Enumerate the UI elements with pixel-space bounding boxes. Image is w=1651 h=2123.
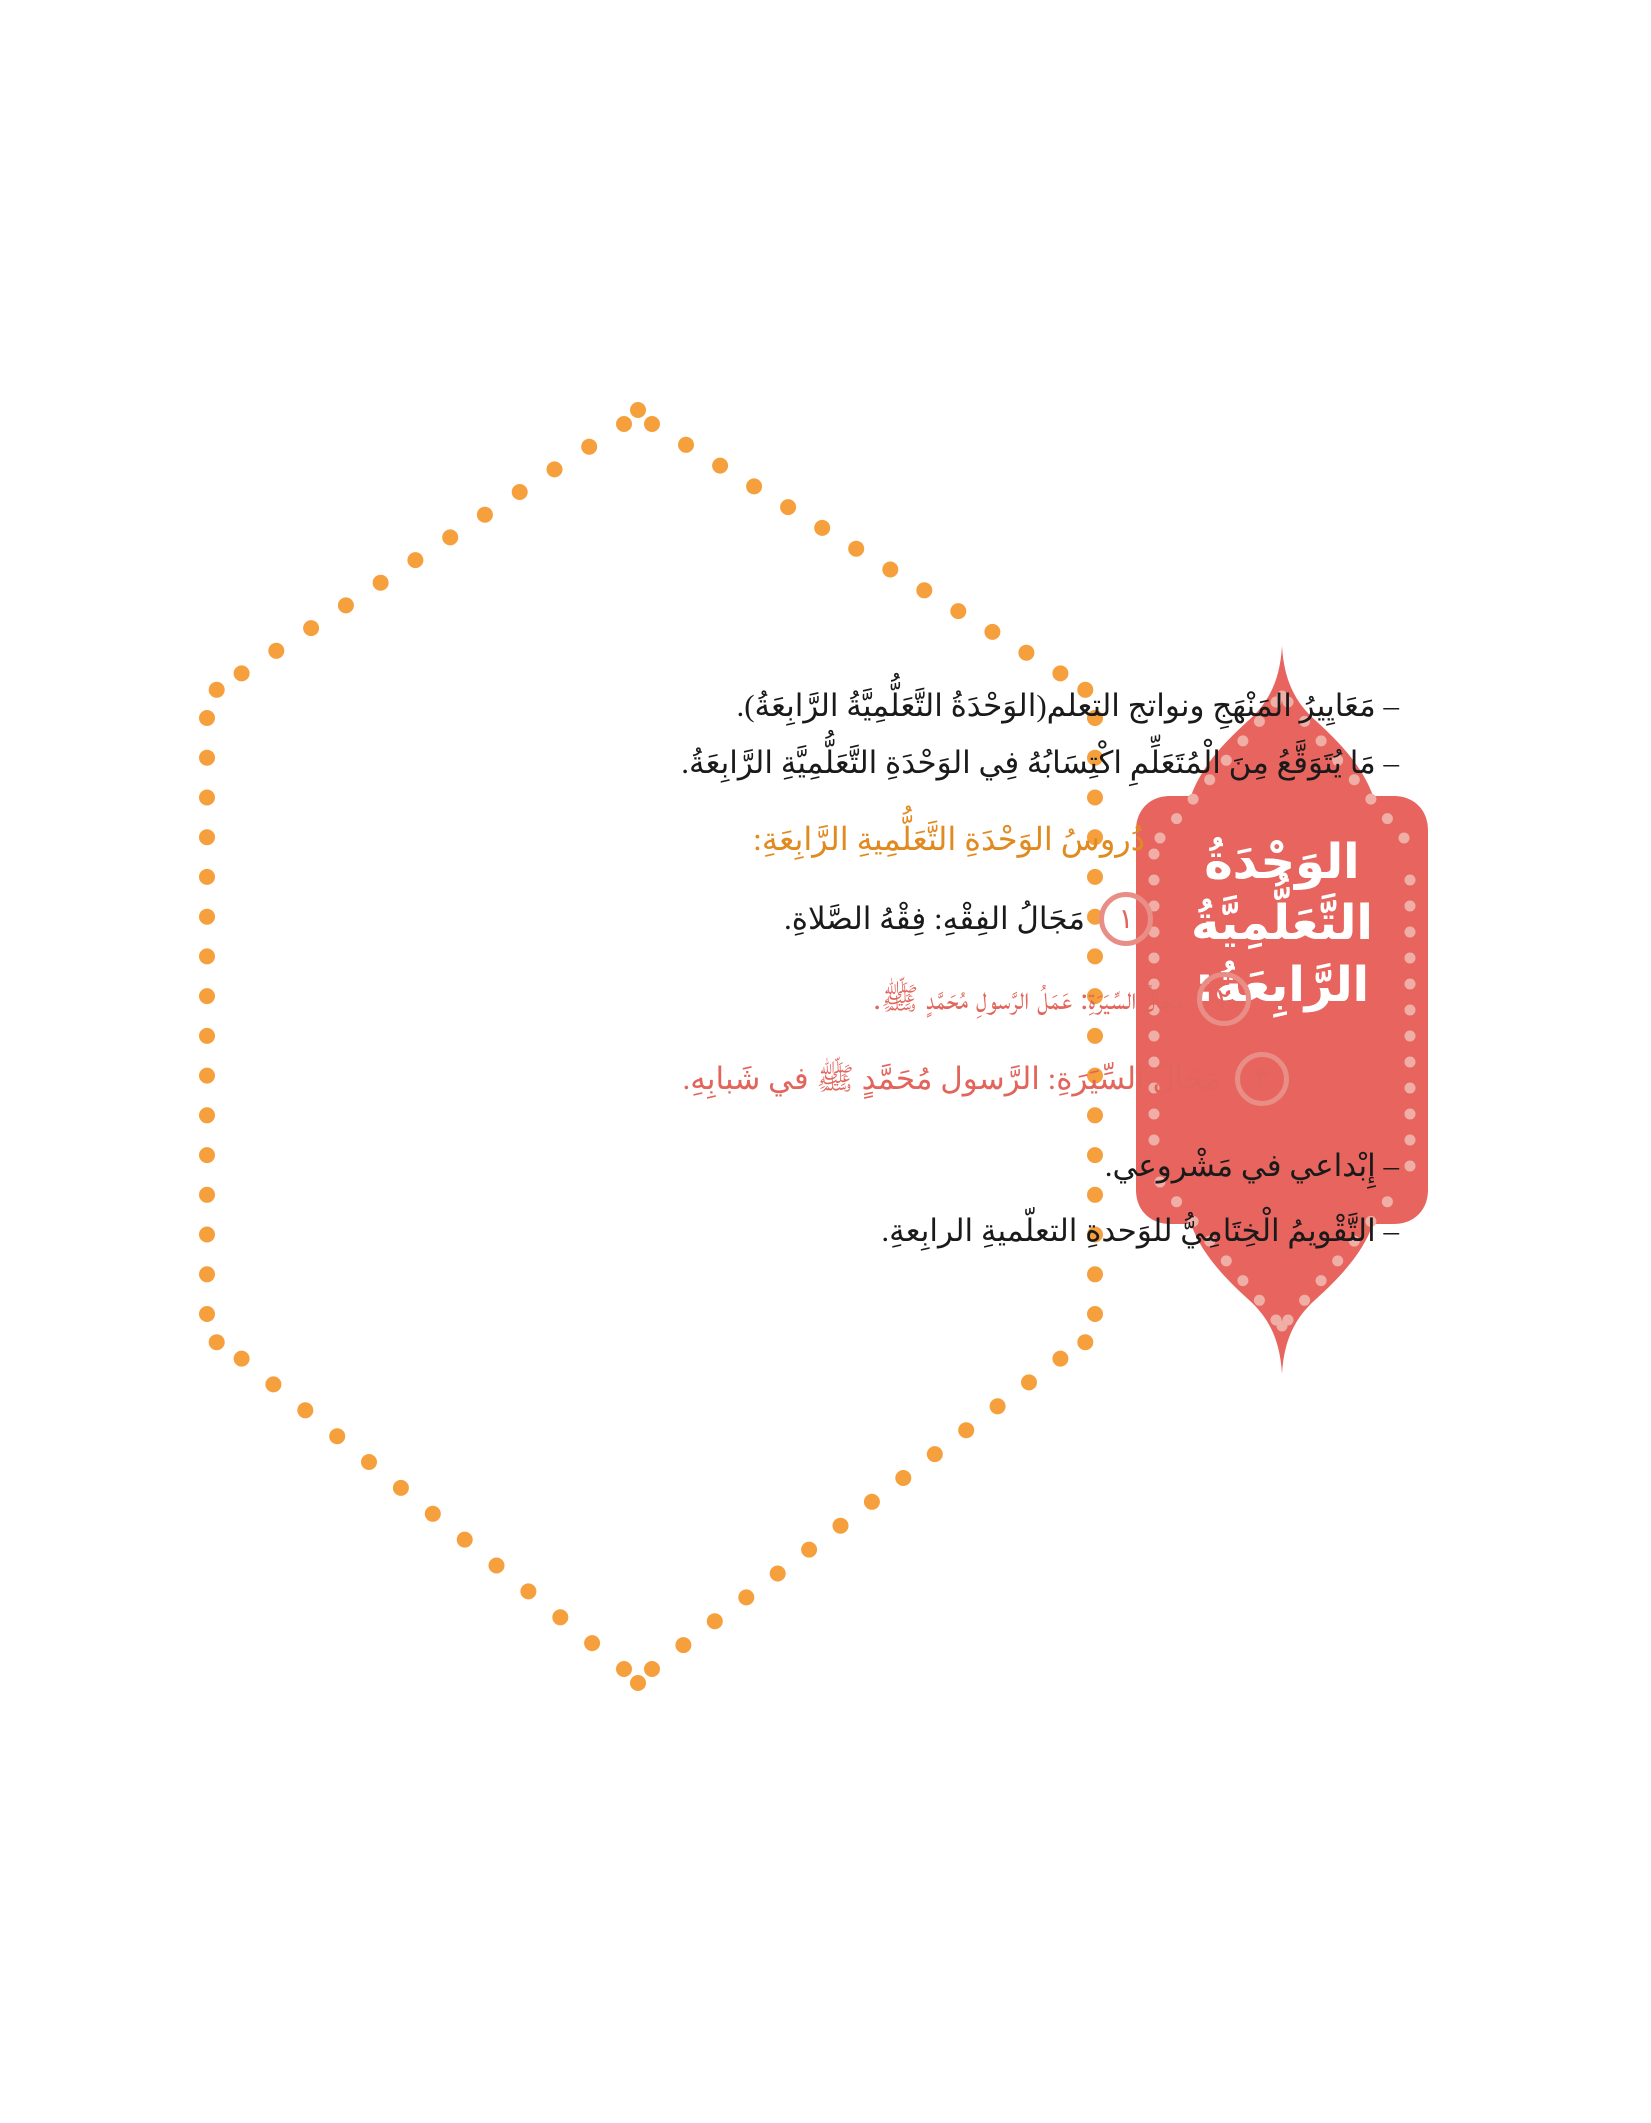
frame-dot — [199, 988, 215, 1004]
frame-dot — [199, 948, 215, 964]
frame-dot — [199, 1306, 215, 1322]
frame-dot — [927, 1446, 943, 1462]
frame-dot — [489, 1558, 505, 1574]
frame-dot — [712, 458, 728, 474]
frame-dot — [864, 1494, 880, 1510]
frame-dot — [895, 1470, 911, 1486]
frame-dot — [630, 402, 646, 418]
lesson-text-1: مَجَالُ الفِقْهِ: فِقْهُ الصَّلاةِ. — [784, 903, 1085, 936]
frame-dot — [393, 1480, 409, 1496]
frame-dot — [801, 1542, 817, 1558]
frame-dot — [520, 1583, 536, 1599]
frame-dot — [1021, 1374, 1037, 1390]
frame-dot — [199, 1147, 215, 1163]
lesson-number-badge-3: ٣ — [1235, 1052, 1289, 1106]
frame-dot — [425, 1506, 441, 1522]
frame-dot — [199, 710, 215, 726]
frame-dot — [1087, 1306, 1103, 1322]
badge-ornament-dot — [1271, 1315, 1282, 1326]
frame-dot — [297, 1402, 313, 1418]
frame-dot — [199, 1227, 215, 1243]
frame-dot — [199, 1068, 215, 1084]
badge-ornament-dot — [1254, 1295, 1265, 1306]
page-canvas: الوَحْدَةُ التَّعَلُّمِيَّةُ الرَّابِعَة… — [0, 0, 1651, 2123]
frame-dot — [644, 1661, 660, 1677]
frame-dot — [1018, 645, 1034, 661]
frame-dot — [746, 478, 762, 494]
frame-dot — [950, 603, 966, 619]
badge-ornament-dot — [1221, 1255, 1232, 1266]
frame-dot — [338, 597, 354, 613]
frame-dot — [882, 562, 898, 578]
frame-dot — [584, 1635, 600, 1651]
lesson-number-badge-1: ١ — [1099, 892, 1153, 946]
frame-dot — [990, 1398, 1006, 1414]
frame-dot — [199, 1107, 215, 1123]
badge-ornament-dot — [1237, 1275, 1248, 1286]
intro-item-2: – مَا يُتَوَقَّعُ مِنَ الْمُتَعَلِّمِ اك… — [559, 747, 1399, 778]
frame-dot — [268, 643, 284, 659]
frame-dot — [552, 1609, 568, 1625]
frame-dot — [1077, 1334, 1093, 1350]
frame-dot — [329, 1428, 345, 1444]
badge-ornament-dot — [1332, 1255, 1343, 1266]
frame-dot — [958, 1422, 974, 1438]
frame-dot — [361, 1454, 377, 1470]
frame-dot — [303, 620, 319, 636]
badge-ornament-dot — [1405, 1109, 1416, 1120]
frame-dot — [407, 552, 423, 568]
lesson-text-2: مَجَالُ السِّيَرَةِ: عَمَلُ الرَّسولِ مُ… — [873, 983, 1183, 1016]
frame-dot — [916, 582, 932, 598]
frame-dot — [581, 439, 597, 455]
lesson-row-1: ١ مَجَالُ الفِقْهِ: فِقْهُ الصَّلاةِ. — [559, 892, 1153, 946]
frame-dot — [477, 507, 493, 523]
closing-item-1: – إِبْداعي في مَشْروعي. — [559, 1150, 1399, 1181]
frame-dot — [780, 499, 796, 515]
frame-dot — [814, 520, 830, 536]
frame-dot — [1087, 1266, 1103, 1282]
lesson-row-3: ٣ مَجَالُ السِّيَرَةِ: الرَّسول مُحَمَّد… — [559, 1052, 1289, 1106]
frame-dot — [616, 1661, 632, 1677]
frame-dot — [675, 1637, 691, 1653]
badge-ornament-dot — [1405, 1161, 1416, 1172]
lesson-row-2: ٢ مَجَالُ السِّيَرَةِ: عَمَلُ الرَّسولِ … — [559, 972, 1251, 1026]
frame-dot — [199, 790, 215, 806]
lesson-number-badge-2: ٢ — [1197, 972, 1251, 1026]
frame-dot — [442, 529, 458, 545]
frame-dot — [199, 750, 215, 766]
frame-dot — [770, 1566, 786, 1582]
badge-ornament-dot — [1299, 1295, 1310, 1306]
badge-ornament-dot — [1405, 1057, 1416, 1068]
frame-dot — [234, 665, 250, 681]
frame-dot — [199, 869, 215, 885]
frame-dot — [199, 909, 215, 925]
frame-dot — [707, 1613, 723, 1629]
badge-ornament-dot — [1405, 1031, 1416, 1042]
frame-dot — [644, 416, 660, 432]
frame-dot — [678, 437, 694, 453]
lesson-text-3: مَجَالُ السِّيَرَةِ: الرَّسول مُحَمَّدٍ … — [683, 1063, 1221, 1096]
lessons-section-heading: دُروسُ الوَحْدَةِ التَّعَلُّمِيةِ الرَّا… — [559, 820, 1399, 858]
badge-ornament-dot — [1316, 1275, 1327, 1286]
frame-dot — [1052, 665, 1068, 681]
frame-dot — [738, 1589, 754, 1605]
frame-dot — [512, 484, 528, 500]
frame-dot — [199, 1266, 215, 1282]
frame-dot — [265, 1376, 281, 1392]
frame-dot — [848, 541, 864, 557]
frame-dot — [457, 1532, 473, 1548]
frame-dot — [209, 682, 225, 698]
frame-dot — [1052, 1351, 1068, 1367]
badge-ornament-dot — [1405, 1083, 1416, 1094]
frame-dot — [373, 575, 389, 591]
frame-dot — [616, 416, 632, 432]
frame-dot — [234, 1351, 250, 1367]
frame-dot — [209, 1334, 225, 1350]
intro-item-1: – مَعَايِيرُ المَنْهَجِ ونواتج التعلم(ال… — [559, 690, 1399, 721]
closing-item-2: – التَّقْويمُ الْخِتَامِيُّ للوَحدةِ الت… — [559, 1215, 1399, 1246]
frame-dot — [199, 829, 215, 845]
frame-dot — [984, 624, 1000, 640]
frame-dot — [833, 1518, 849, 1534]
frame-dot — [547, 461, 563, 477]
frame-dot — [630, 1675, 646, 1691]
content-column: – مَعَايِيرُ المَنْهَجِ ونواتج التعلم(ال… — [559, 690, 1399, 1246]
frame-dot — [199, 1187, 215, 1203]
frame-dot — [199, 1028, 215, 1044]
badge-ornament-dot — [1405, 1135, 1416, 1146]
